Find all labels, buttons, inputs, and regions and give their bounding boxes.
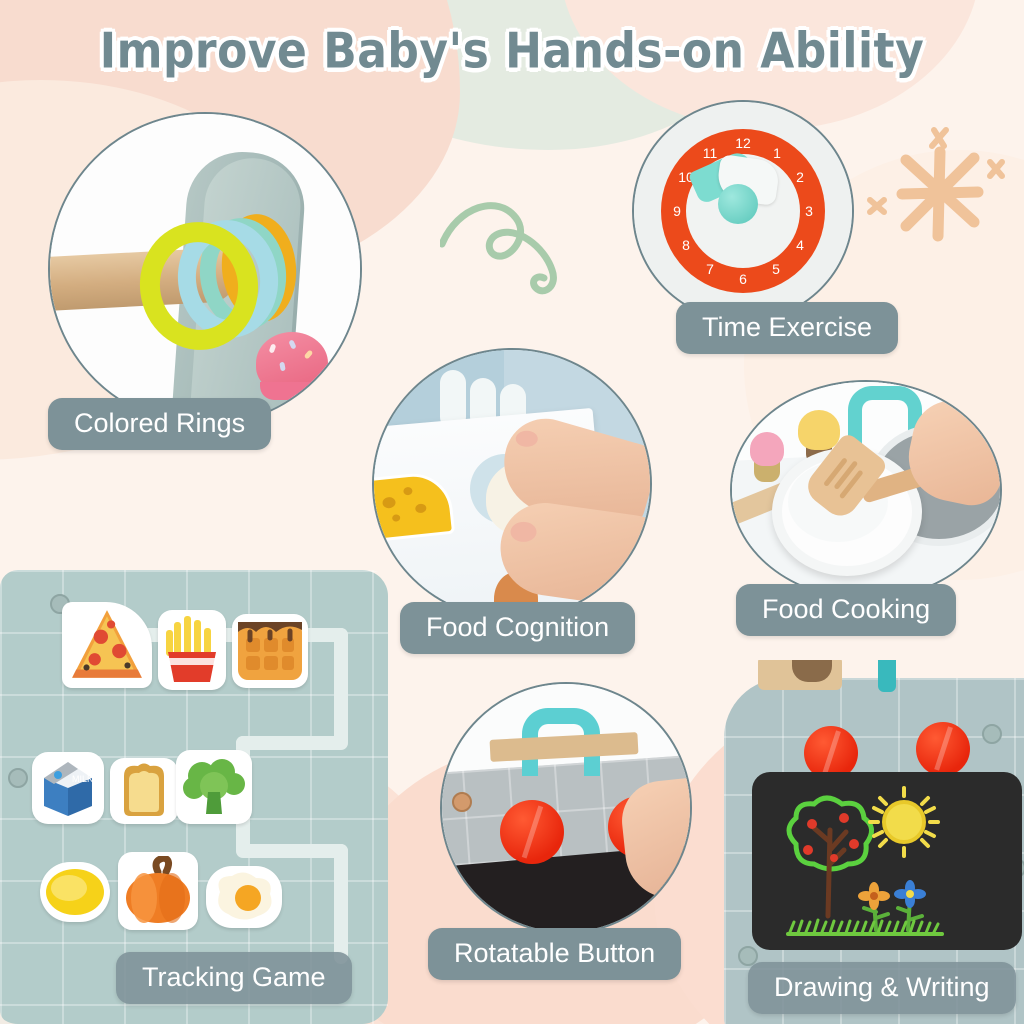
- teal-hook: [878, 660, 896, 692]
- chalk-drawing: [752, 772, 1022, 950]
- clock-number-6: 6: [733, 270, 753, 288]
- svg-text:MILK: MILK: [72, 774, 93, 784]
- screw-left: [8, 768, 28, 788]
- clock-number-7: 7: [700, 260, 720, 278]
- food-tile-fried-egg: [206, 866, 282, 928]
- screw-left: [452, 792, 472, 812]
- food-tile-lemon: [40, 862, 110, 922]
- feature-image-rotatable-button: [440, 682, 692, 934]
- clock-number-3: 3: [799, 202, 819, 220]
- feature-image-time-exercise: 12 1 2 3 4 5 6 7 8 9 10 11: [632, 100, 854, 322]
- page-title: Improve Baby's Hands-on Ability: [0, 23, 1024, 80]
- infographic-canvas: Improve Baby's Hands-on Ability: [0, 0, 1024, 1024]
- hand-drawn-star-icon: [862, 118, 1012, 268]
- food-tile-broccoli: [176, 750, 252, 824]
- label-tracking-game: Tracking Game: [116, 952, 352, 1004]
- feature-image-food-cooking: [730, 380, 1002, 600]
- feature-image-food-cognition: [372, 348, 652, 620]
- label-rotatable-button: Rotatable Button: [428, 928, 681, 980]
- food-tile-fries: [158, 610, 226, 690]
- clock-center-hub: [718, 184, 758, 224]
- food-tile-toast: [110, 758, 178, 824]
- ice-cream-topper: [256, 332, 328, 394]
- clock-number-8: 8: [676, 236, 696, 254]
- label-food-cooking: Food Cooking: [736, 584, 956, 636]
- red-knob-left[interactable]: [500, 800, 564, 864]
- food-tile-milk-carton: MILK: [32, 752, 104, 824]
- chalkboard: [752, 772, 1022, 950]
- label-time-exercise: Time Exercise: [676, 302, 898, 354]
- feature-image-colored-rings: [48, 112, 362, 426]
- clock-number-9: 9: [667, 202, 687, 220]
- clock-number-11: 11: [700, 144, 720, 162]
- clock-number-4: 4: [790, 236, 810, 254]
- red-knob-right[interactable]: [916, 722, 970, 776]
- clock-number-12: 12: [733, 134, 753, 152]
- food-tile-pizza: [62, 602, 152, 688]
- clock-number-2: 2: [790, 168, 810, 186]
- clock-number-5: 5: [766, 260, 786, 278]
- food-tile-waffle: [232, 614, 308, 688]
- label-food-cognition: Food Cognition: [400, 602, 635, 654]
- label-drawing-writing: Drawing & Writing: [748, 962, 1016, 1014]
- screw-top-right: [982, 724, 1002, 744]
- green-squiggle-icon: [440, 188, 630, 298]
- clock-number-1: 1: [767, 144, 787, 162]
- food-tile-pumpkin: [118, 852, 198, 930]
- label-colored-rings: Colored Rings: [48, 398, 271, 450]
